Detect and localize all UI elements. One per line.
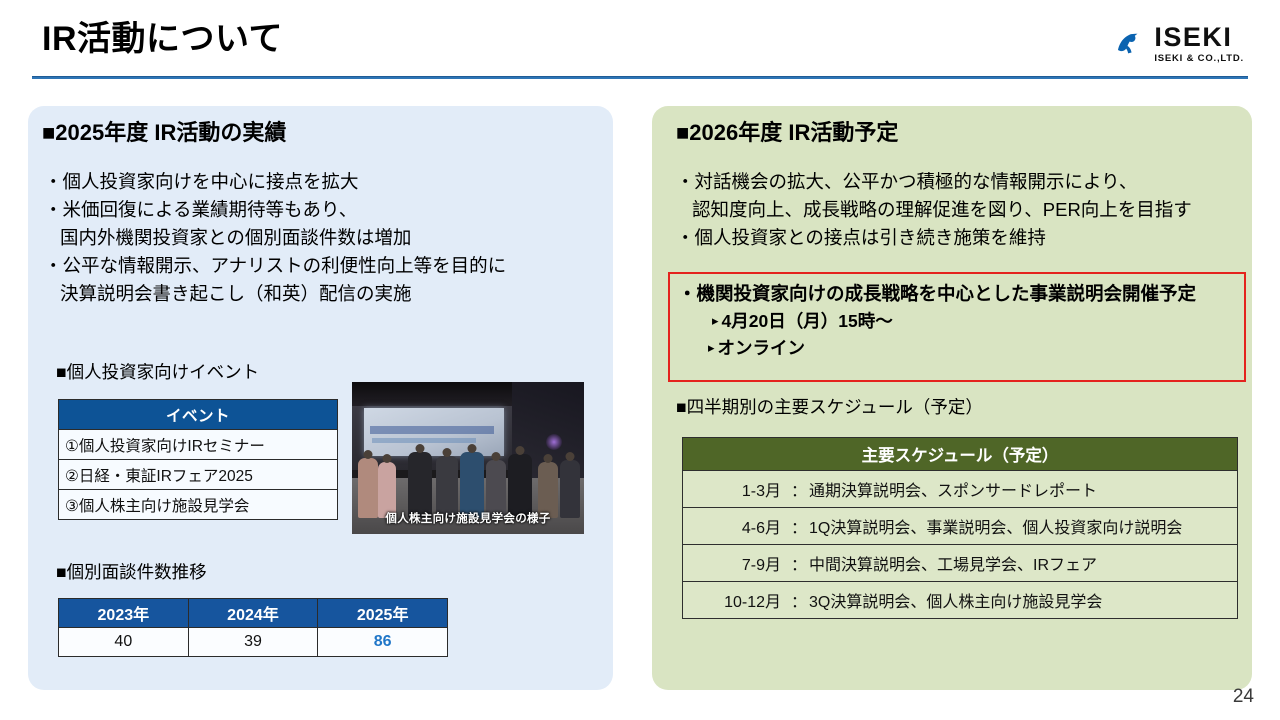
arrow-marker-icon: ▸ [708, 340, 715, 355]
photo-person [460, 452, 484, 518]
left-panel-heading: ■2025年度 IR活動の実績 [42, 120, 286, 146]
schedule-colon: ： [791, 588, 809, 612]
left-bullet-2: ・米価回復による業績期待等もあり、 [44, 196, 584, 224]
events-table-cell: ③個人株主向け施設見学会 [59, 490, 338, 520]
left-panel-bullet-list: ・個人投資家向けを中心に接点を拡大 ・米価回復による業績期待等もあり、 国内外機… [44, 168, 584, 309]
events-table: イベント ①個人投資家向けIRセミナー ②日経・東証IRフェア2025 ③個人株… [58, 399, 338, 520]
schedule-period: 1-3月 [689, 477, 791, 501]
photo-person [408, 452, 432, 518]
table-header-row: 2023年 2024年 2025年 [59, 599, 448, 628]
events-table-cell: ①個人投資家向けIRセミナー [59, 430, 338, 460]
meetings-value-2025: 86 [318, 628, 448, 657]
table-row: 7-9月：中間決算説明会、工場見学会、IRフェア [683, 545, 1238, 582]
schedule-content: 3Q決算説明会、個人株主向け施設見学会 [809, 594, 1102, 611]
events-table-header-cell: イベント [59, 400, 338, 430]
events-table-cell: ②日経・東証IRフェア2025 [59, 460, 338, 490]
photo-person [358, 458, 378, 518]
right-panel-bullet-list: ・対話機会の拡大、公平かつ積極的な情報開示により、 認知度向上、成長戦略の理解促… [676, 168, 1236, 252]
highlight-title: ・機関投資家向けの成長戦略を中心とした事業説明会開催予定 [678, 280, 1244, 308]
photo-person [436, 456, 458, 518]
table-row: 40 39 86 [59, 628, 448, 657]
schedule-content: 通期決算説明会、スポンサードレポート [809, 483, 1097, 500]
company-logo: ISEKI ISEKI & CO.,LTD. [1112, 24, 1244, 64]
schedule-table-header-cell: 主要スケジュール（予定） [683, 438, 1238, 471]
photo-light-flare [546, 434, 562, 450]
right-panel-heading: ■2026年度 IR活動予定 [676, 120, 898, 146]
schedule-row-q4: 10-12月：3Q決算説明会、個人株主向け施設見学会 [683, 582, 1238, 619]
logo-wordmark: ISEKI [1154, 24, 1232, 51]
page-number: 24 [1233, 686, 1254, 708]
schedule-colon: ： [791, 477, 809, 501]
table-header-row: 主要スケジュール（予定） [683, 438, 1238, 471]
table-row: ②日経・東証IRフェア2025 [59, 460, 338, 490]
photo-screen-band [370, 426, 494, 434]
table-row: ③個人株主向け施設見学会 [59, 490, 338, 520]
meetings-value-2023: 40 [59, 628, 189, 657]
table-row: 10-12月：3Q決算説明会、個人株主向け施設見学会 [683, 582, 1238, 619]
table-row: 1-3月：通期決算説明会、スポンサードレポート [683, 471, 1238, 508]
meetings-col-2025: 2025年 [318, 599, 448, 628]
table-header-row: イベント [59, 400, 338, 430]
photo-caption: 個人株主向け施設見学会の様子 [352, 510, 584, 526]
arrow-marker-icon: ▸ [712, 313, 719, 328]
events-section-heading: ■個人投資家向けイベント [56, 362, 259, 383]
logo-subtext: ISEKI & CO.,LTD. [1154, 54, 1244, 64]
photo-person [508, 454, 532, 518]
quarterly-schedule-table: 主要スケジュール（予定） 1-3月：通期決算説明会、スポンサードレポート 4-6… [682, 437, 1238, 619]
photo-screen-band-2 [372, 438, 476, 443]
highlight-sub-item-format: ▸オンライン [678, 335, 1244, 362]
schedule-colon: ： [791, 514, 809, 538]
facility-tour-photo: 個人株主向け施設見学会の様子 [352, 382, 584, 534]
iseki-bird-mark-icon [1112, 27, 1146, 61]
schedule-row-q2: 4-6月：1Q決算説明会、事業説明会、個人投資家向け説明会 [683, 508, 1238, 545]
meetings-value-2024: 39 [188, 628, 318, 657]
highlight-sub-label: オンライン [718, 338, 806, 358]
meetings-section-heading: ■個別面談件数推移 [56, 562, 207, 583]
right-bullet-1: ・対話機会の拡大、公平かつ積極的な情報開示により、 [676, 168, 1236, 196]
title-divider [32, 76, 1248, 79]
meetings-count-table: 2023年 2024年 2025年 40 39 86 [58, 598, 448, 657]
right-bullet-1-cont: 認知度向上、成長戦略の理解促進を図り、PER向上を目指す [676, 196, 1236, 224]
meetings-col-2023: 2023年 [59, 599, 189, 628]
highlight-sub-item-date: ▸4月20日（月）15時～ [678, 308, 1244, 335]
table-row: ①個人投資家向けIRセミナー [59, 430, 338, 460]
left-bullet-2-cont: 国内外機関投資家との個別面談件数は増加 [44, 224, 584, 252]
highlight-box-briefing: ・機関投資家向けの成長戦略を中心とした事業説明会開催予定 ▸4月20日（月）15… [668, 272, 1246, 382]
schedule-period: 10-12月 [689, 588, 791, 612]
page-title: IR活動について [42, 21, 283, 58]
left-bullet-3: ・公平な情報開示、アナリストの利便性向上等を目的に [44, 252, 584, 280]
highlight-sub-label: 4月20日（月）15時～ [722, 311, 893, 331]
right-bullet-2: ・個人投資家との接点は引き続き施策を維持 [676, 224, 1236, 252]
schedule-section-heading: ■四半期別の主要スケジュール（予定） [676, 397, 983, 418]
left-bullet-3-cont: 決算説明会書き起こし（和英）配信の実施 [44, 280, 584, 308]
schedule-content: 中間決算説明会、工場見学会、IRフェア [809, 557, 1097, 574]
left-bullet-1: ・個人投資家向けを中心に接点を拡大 [44, 168, 584, 196]
schedule-period: 7-9月 [689, 551, 791, 575]
slide-header: IR活動について ISEKI ISEKI & CO.,LTD. [0, 0, 1280, 82]
table-row: 4-6月：1Q決算説明会、事業説明会、個人投資家向け説明会 [683, 508, 1238, 545]
schedule-row-q3: 7-9月：中間決算説明会、工場見学会、IRフェア [683, 545, 1238, 582]
meetings-col-2024: 2024年 [188, 599, 318, 628]
schedule-row-q1: 1-3月：通期決算説明会、スポンサードレポート [683, 471, 1238, 508]
schedule-content: 1Q決算説明会、事業説明会、個人投資家向け説明会 [809, 520, 1182, 537]
schedule-colon: ： [791, 551, 809, 575]
schedule-period: 4-6月 [689, 514, 791, 538]
